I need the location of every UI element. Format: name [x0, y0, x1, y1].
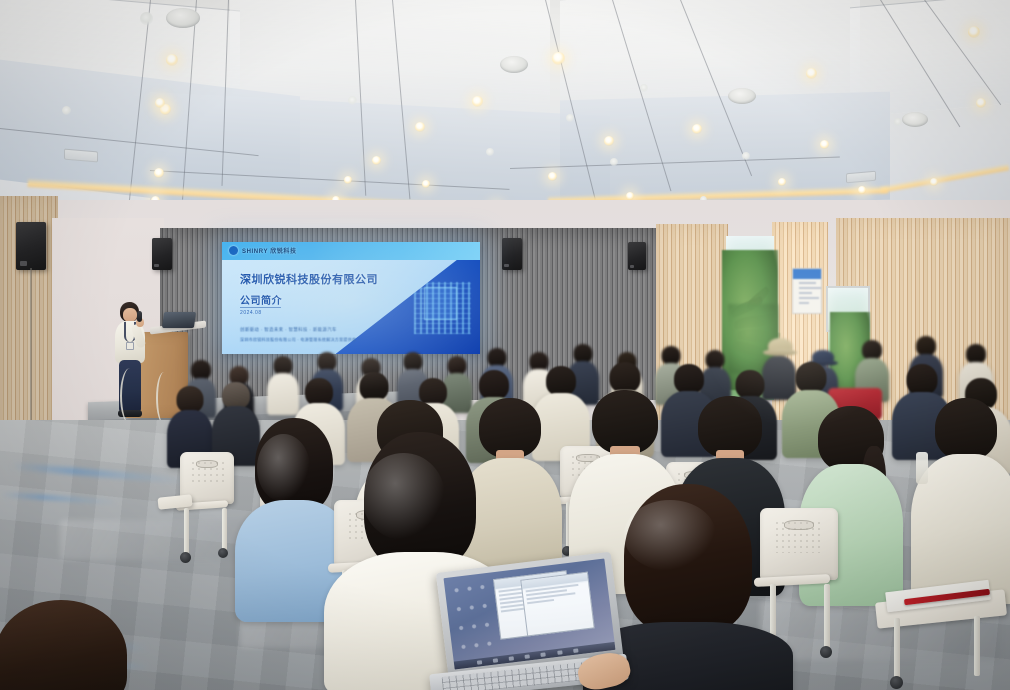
- conference-room-photo: SHINRY 欣锐科技 深圳欣锐科技股份有限公司 公司简介 2024.08 创新…: [0, 0, 1010, 690]
- slide-logo-icon: [229, 246, 238, 255]
- ceiling-speaker: [166, 8, 200, 28]
- foreground-attendee-left-partial: [0, 600, 136, 690]
- wall-speaker-right: [628, 242, 646, 270]
- microphone-icon: [137, 311, 142, 322]
- slide-product-graphic: [414, 282, 472, 334]
- badge: [126, 342, 134, 350]
- slide-logo-text: SHINRY 欣锐科技: [242, 246, 297, 255]
- slide-date: 2024.08: [240, 310, 262, 316]
- water-bottle: [916, 452, 928, 484]
- slide-header-bar: SHINRY 欣锐科技: [222, 242, 480, 260]
- wall-speaker-stage-left: [152, 238, 172, 270]
- presenter-face: [123, 308, 137, 322]
- wall-notice: [792, 268, 822, 314]
- podium-laptop: [162, 312, 196, 328]
- laptop-screen: [444, 559, 616, 670]
- slide-tagline: 创新驱动 · 智造未来 · 智慧科技 · 新能源汽车: [240, 327, 337, 333]
- suspended-ceiling: [0, 0, 1010, 232]
- projection-screen: SHINRY 欣锐科技 深圳欣锐科技股份有限公司 公司简介 2024.08 创新…: [222, 242, 480, 354]
- hp-laptop[interactable]: hp: [428, 562, 638, 690]
- slide-subtitle: 公司简介: [240, 292, 282, 307]
- slide-title: 深圳欣锐科技股份有限公司: [240, 271, 378, 287]
- app-window-front: [520, 572, 594, 637]
- training-chair-with-items[interactable]: [876, 560, 1010, 690]
- training-chair[interactable]: [176, 452, 236, 562]
- wall-speaker-left: [16, 222, 46, 270]
- floor-cable: [120, 368, 140, 424]
- wall-speaker-stage-right: [502, 238, 522, 270]
- slide-footnote: 深圳市欣锐科技股份有限公司 · 电源管理系统解决方案提供商: [240, 337, 356, 343]
- slide-divider: [240, 307, 281, 308]
- presentation-slide: SHINRY 欣锐科技 深圳欣锐科技股份有限公司 公司简介 2024.08 创新…: [222, 242, 480, 354]
